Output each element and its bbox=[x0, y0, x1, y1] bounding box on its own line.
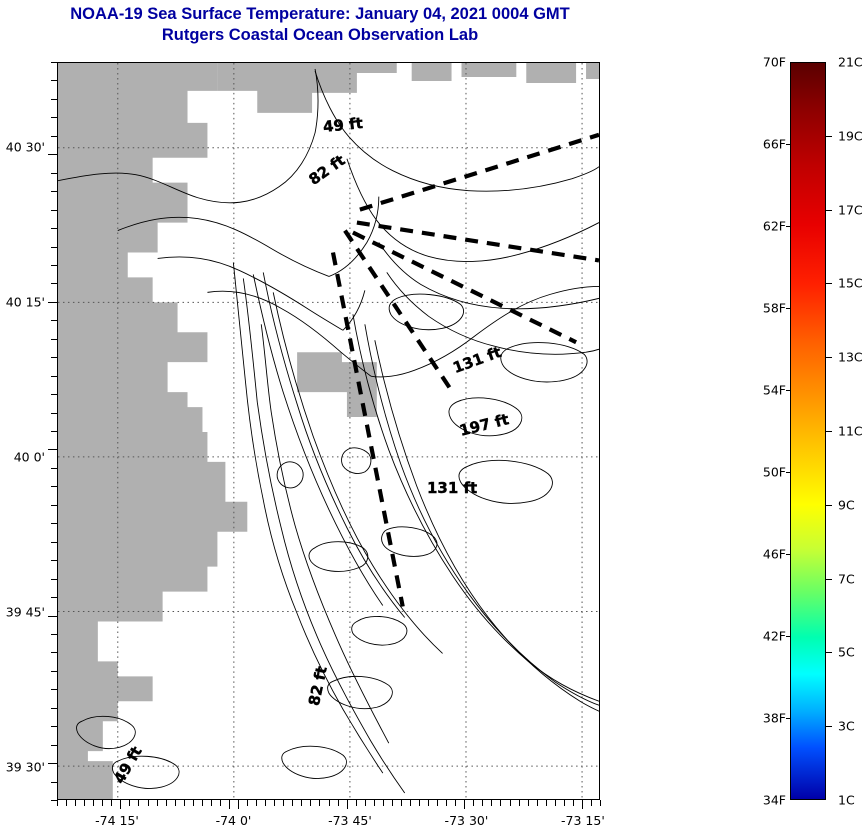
colorbar-c-label: 11C bbox=[838, 424, 863, 439]
x-tick bbox=[66, 800, 67, 806]
x-tick bbox=[482, 800, 483, 806]
x-tick bbox=[229, 800, 230, 809]
y-tick bbox=[48, 449, 57, 450]
x-tick bbox=[401, 800, 402, 806]
x-tick bbox=[157, 800, 158, 806]
y-tick-label: 40 0' bbox=[0, 449, 45, 464]
x-tick bbox=[573, 800, 574, 806]
colorbar-f-label: 42F bbox=[763, 629, 786, 644]
y-tick bbox=[51, 579, 57, 580]
x-tick bbox=[437, 800, 438, 806]
x-tick-label: -73 15' bbox=[561, 813, 605, 828]
y-tick bbox=[48, 302, 57, 303]
x-tick bbox=[446, 800, 447, 806]
colorbar-c-tick bbox=[826, 505, 832, 506]
colorbar-c-label: 21C bbox=[838, 55, 863, 70]
x-tick bbox=[301, 800, 302, 806]
y-tick bbox=[51, 99, 57, 100]
y-tick bbox=[48, 616, 57, 617]
depth-label-131ft-lower: 131 ft bbox=[427, 479, 477, 497]
y-tick bbox=[51, 173, 57, 174]
y-tick bbox=[51, 486, 57, 487]
x-tick bbox=[356, 800, 357, 806]
x-tick bbox=[528, 800, 529, 806]
colorbar-c-label: 1C bbox=[838, 793, 855, 808]
colorbar-c-tick bbox=[826, 210, 832, 211]
title-line-1: NOAA-19 Sea Surface Temperature: January… bbox=[0, 4, 640, 25]
x-tick bbox=[184, 800, 185, 806]
x-tick bbox=[392, 800, 393, 806]
x-tick-label: -73 45' bbox=[328, 813, 372, 828]
y-tick bbox=[51, 320, 57, 321]
x-tick bbox=[419, 800, 420, 806]
colorbar-c-label: 3C bbox=[838, 719, 855, 734]
x-tick bbox=[111, 800, 112, 806]
y-tick bbox=[51, 468, 57, 469]
colorbar-f-label: 50F bbox=[763, 465, 786, 480]
y-tick bbox=[51, 560, 57, 561]
x-tick bbox=[238, 800, 239, 809]
colorbar-fahrenheit-labels: 70F66F62F58F54F50F46F42F38F34F bbox=[742, 62, 786, 800]
colorbar-f-label: 62F bbox=[763, 219, 786, 234]
y-tick-label: 40 30' bbox=[0, 139, 45, 154]
x-tick bbox=[193, 800, 194, 806]
y-tick bbox=[51, 357, 57, 358]
sst-map-plot[interactable]: 49 ft 82 ft 131 ft 197 ft 131 ft 82 ft 4… bbox=[57, 62, 600, 800]
y-tick bbox=[51, 652, 57, 653]
x-tick bbox=[329, 800, 330, 806]
colorbar-celsius-labels: 21C19C17C15C13C11C9C7C5C3C1C bbox=[830, 62, 864, 800]
title-line-2: Rutgers Coastal Ocean Observation Lab bbox=[0, 25, 640, 46]
y-tick bbox=[51, 413, 57, 414]
x-tick-label: -74 15' bbox=[95, 813, 139, 828]
colorbar-f-label: 34F bbox=[763, 793, 786, 808]
colorbar-c-label: 5C bbox=[838, 645, 855, 660]
colorbar-f-label: 58F bbox=[763, 301, 786, 316]
x-tick bbox=[202, 800, 203, 806]
x-tick bbox=[129, 800, 130, 806]
x-tick bbox=[274, 800, 275, 806]
x-tick bbox=[84, 800, 85, 806]
y-tick bbox=[51, 339, 57, 340]
y-tick-label: 39 45' bbox=[0, 604, 45, 619]
y-tick bbox=[51, 634, 57, 635]
x-tick bbox=[374, 800, 375, 806]
colorbar-c-label: 9C bbox=[838, 497, 855, 512]
x-tick bbox=[428, 800, 429, 806]
colorbar-gradient bbox=[790, 62, 826, 800]
x-tick bbox=[455, 800, 456, 806]
x-tick bbox=[365, 800, 366, 806]
colorbar-f-label: 54F bbox=[763, 383, 786, 398]
x-tick bbox=[138, 800, 139, 806]
x-tick bbox=[75, 800, 76, 806]
colorbar-f-label: 46F bbox=[763, 547, 786, 562]
page-title: NOAA-19 Sea Surface Temperature: January… bbox=[0, 4, 640, 46]
x-tick bbox=[591, 800, 592, 806]
colorbar-c-label: 15C bbox=[838, 276, 863, 291]
colorbar-c-label: 7C bbox=[838, 571, 855, 586]
y-tick bbox=[51, 431, 57, 432]
y-tick bbox=[51, 523, 57, 524]
x-tick bbox=[283, 800, 284, 806]
y-tick bbox=[51, 80, 57, 81]
x-tick bbox=[510, 800, 511, 806]
x-tick-label: -74 0' bbox=[216, 813, 252, 828]
colorbar-c-label: 17C bbox=[838, 202, 863, 217]
x-tick bbox=[310, 800, 311, 806]
y-tick bbox=[51, 782, 57, 783]
x-tick bbox=[491, 800, 492, 806]
x-tick bbox=[292, 800, 293, 806]
y-tick bbox=[51, 376, 57, 377]
colorbar-c-tick bbox=[826, 579, 832, 580]
x-tick-label: -73 30' bbox=[445, 813, 489, 828]
x-tick bbox=[582, 800, 583, 809]
x-tick bbox=[120, 800, 121, 809]
x-tick bbox=[247, 800, 248, 806]
y-tick bbox=[51, 117, 57, 118]
y-tick bbox=[51, 505, 57, 506]
y-tick bbox=[51, 745, 57, 746]
colorbar-c-label: 19C bbox=[838, 128, 863, 143]
x-tick bbox=[319, 800, 320, 806]
y-tick bbox=[51, 800, 57, 801]
x-tick bbox=[211, 800, 212, 806]
y-tick bbox=[51, 62, 57, 63]
x-tick bbox=[500, 800, 501, 806]
x-tick bbox=[57, 800, 58, 806]
x-tick bbox=[555, 800, 556, 806]
y-tick bbox=[51, 265, 57, 266]
x-tick bbox=[148, 800, 149, 806]
x-tick bbox=[175, 800, 176, 806]
y-tick-label: 40 15' bbox=[0, 294, 45, 309]
y-tick bbox=[51, 283, 57, 284]
x-tick bbox=[537, 800, 538, 806]
y-tick bbox=[51, 671, 57, 672]
colorbar[interactable] bbox=[790, 62, 826, 800]
colorbar-c-tick bbox=[826, 431, 832, 432]
colorbar-f-label: 70F bbox=[763, 55, 786, 70]
y-tick bbox=[51, 210, 57, 211]
x-tick bbox=[347, 800, 348, 809]
x-tick bbox=[383, 800, 384, 806]
x-tick bbox=[473, 800, 474, 806]
colorbar-f-label: 66F bbox=[763, 137, 786, 152]
x-tick bbox=[102, 800, 103, 806]
y-tick bbox=[51, 708, 57, 709]
y-tick bbox=[51, 689, 57, 690]
colorbar-c-label: 13C bbox=[838, 350, 863, 365]
x-tick bbox=[564, 800, 565, 806]
x-tick bbox=[546, 800, 547, 806]
y-tick bbox=[51, 191, 57, 192]
x-tick bbox=[338, 800, 339, 806]
x-tick bbox=[166, 800, 167, 806]
x-tick bbox=[519, 800, 520, 806]
x-tick bbox=[93, 800, 94, 806]
colorbar-c-tick bbox=[826, 726, 832, 727]
y-tick bbox=[51, 136, 57, 137]
y-tick bbox=[48, 763, 57, 764]
y-tick bbox=[51, 597, 57, 598]
x-tick bbox=[410, 800, 411, 806]
colorbar-f-label: 38F bbox=[763, 711, 786, 726]
y-tick bbox=[51, 247, 57, 248]
y-tick bbox=[48, 154, 57, 155]
x-tick bbox=[256, 800, 257, 806]
colorbar-c-tick bbox=[826, 136, 832, 137]
x-tick bbox=[600, 800, 601, 806]
y-tick bbox=[51, 228, 57, 229]
colorbar-c-tick bbox=[826, 357, 832, 358]
y-tick bbox=[51, 726, 57, 727]
y-tick bbox=[51, 542, 57, 543]
x-tick bbox=[265, 800, 266, 806]
y-tick-label: 39 30' bbox=[0, 759, 45, 774]
x-tick bbox=[464, 800, 465, 809]
colorbar-c-tick bbox=[826, 652, 832, 653]
y-tick bbox=[51, 394, 57, 395]
x-tick bbox=[220, 800, 221, 806]
colorbar-c-tick bbox=[826, 283, 832, 284]
